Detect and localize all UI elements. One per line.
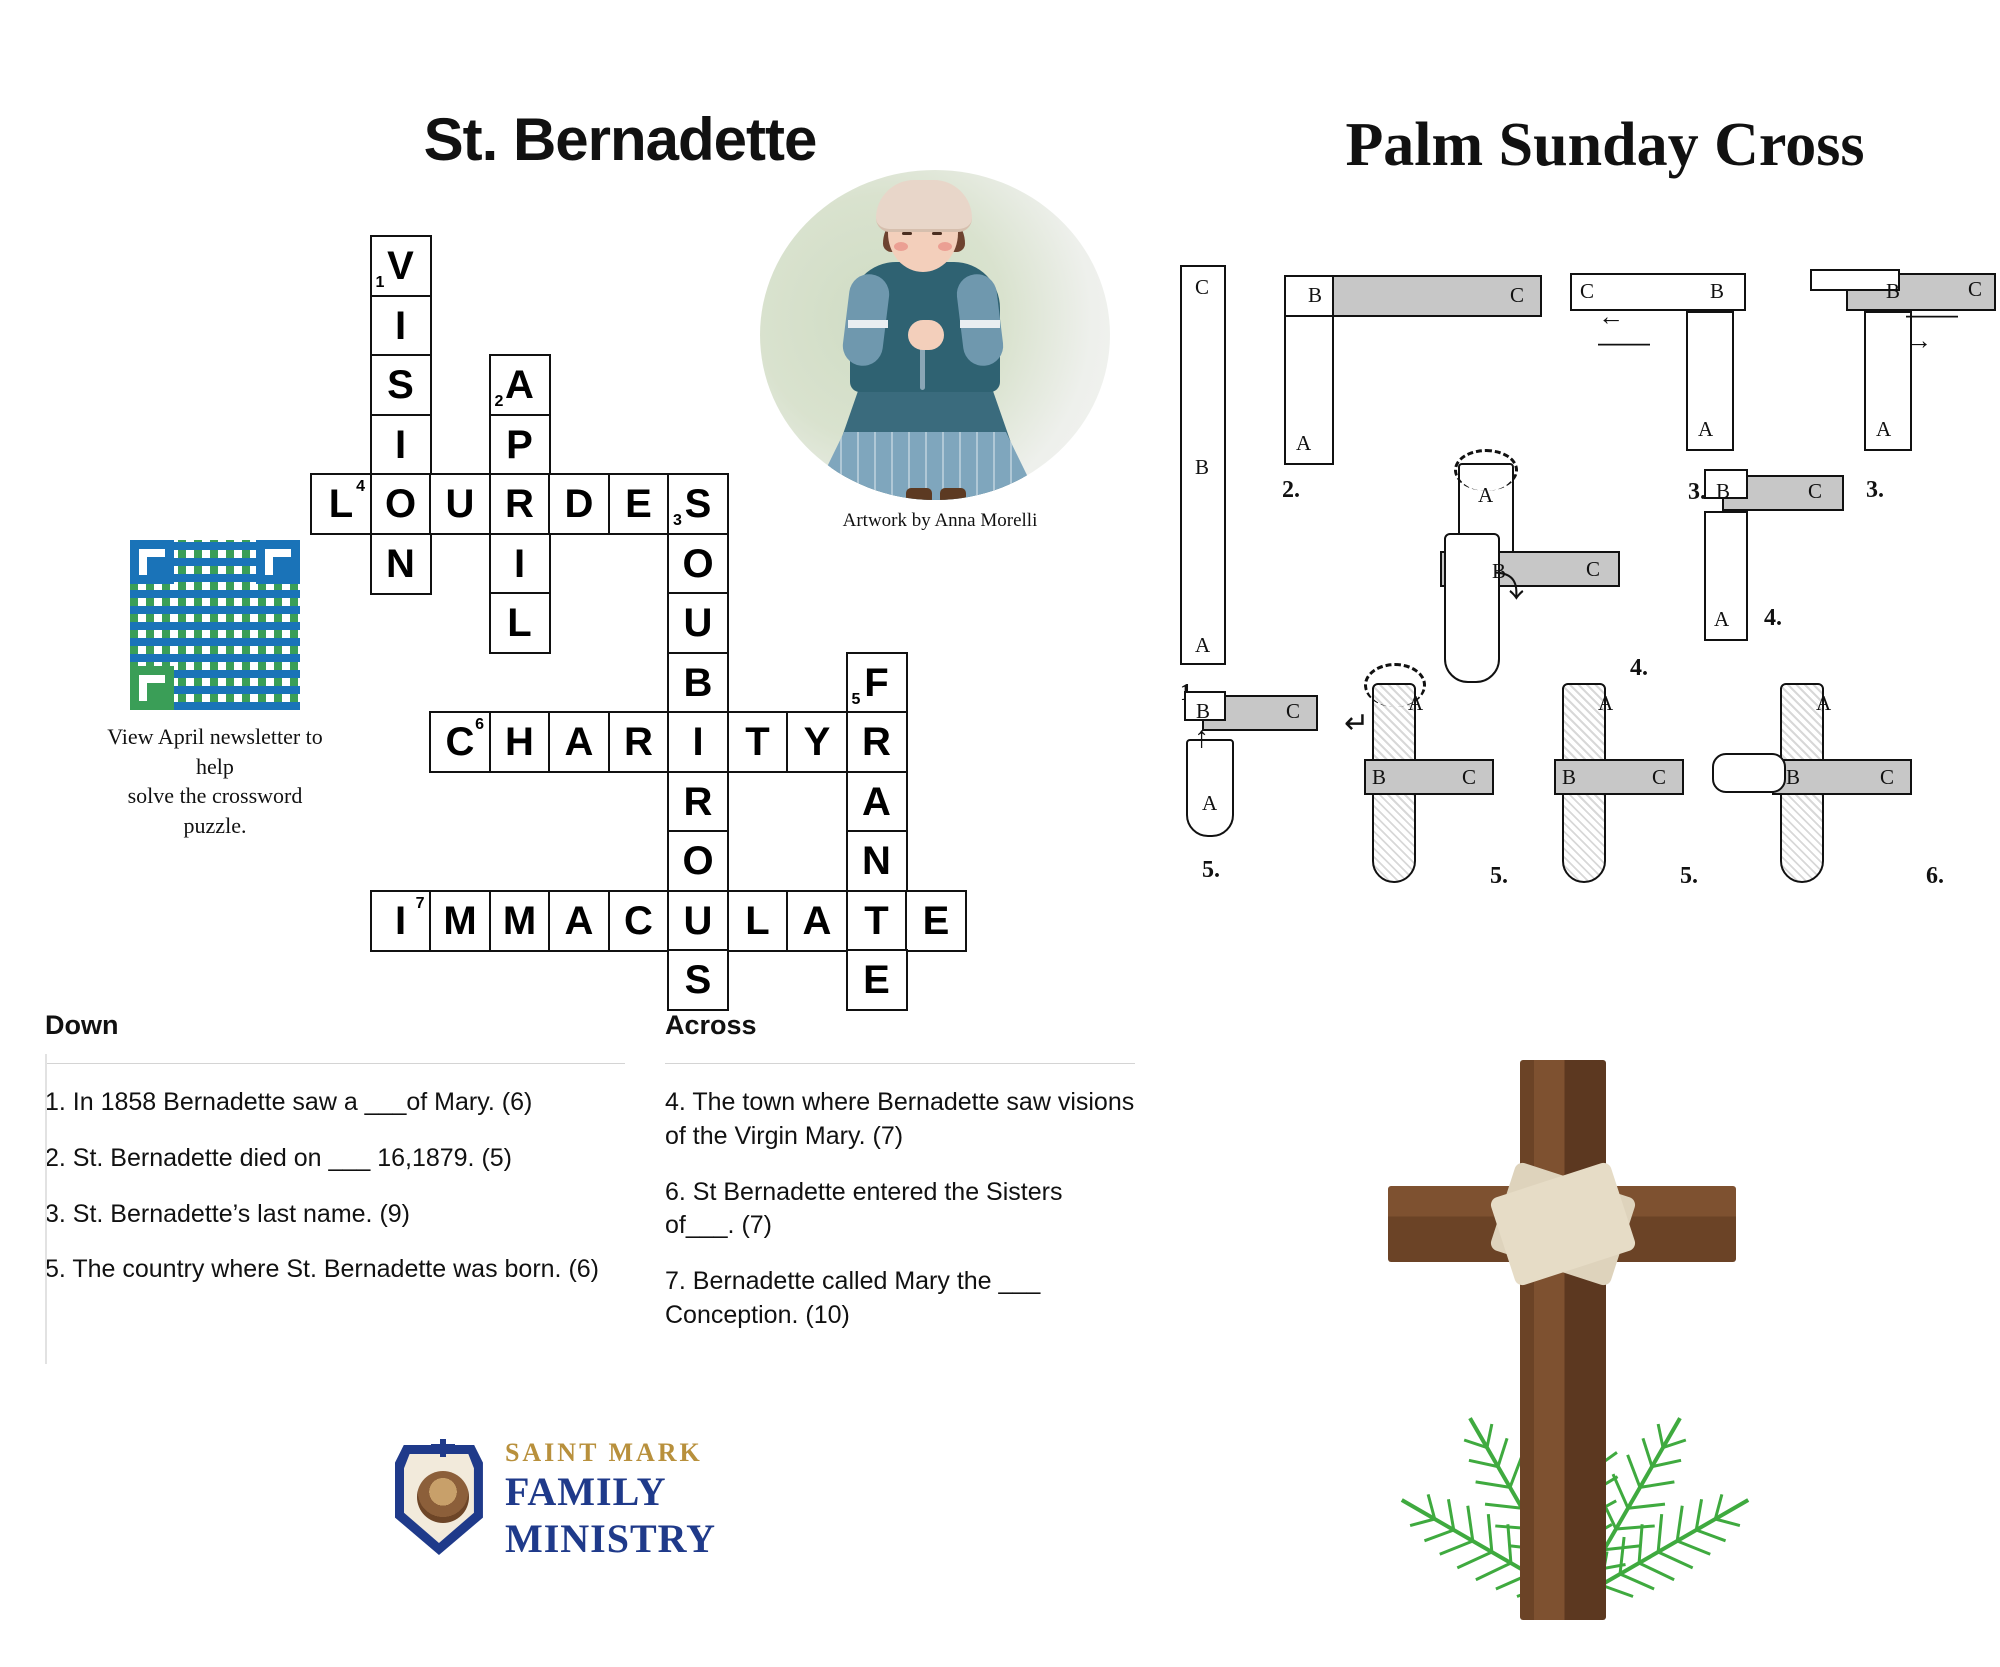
logo-line-2: FAMILY MINISTRY [505,1468,855,1562]
arrow-left-icon: ←—— [1598,303,1650,355]
qr-code-icon[interactable] [130,540,300,710]
qr-caption-line2: solve the crossword puzzle. [95,781,335,840]
label-a: A [1195,633,1210,658]
crossword-cell-letter: F [864,663,888,703]
across-clue-6: 6. St Bernadette entered the Sisters of_… [665,1176,1135,1244]
across-clue-7: 7. Bernadette called Mary the ___ Concep… [665,1265,1135,1333]
label-a: A [1478,483,1493,508]
portrait-bonnet [876,180,972,232]
across-heading: Across [665,1010,1135,1041]
crossword-cell-letter: C [446,722,475,762]
crossword-cell-letter: N [862,841,891,881]
crossword-cell-number: 7 [416,896,425,912]
step-number-6: 6. [1926,863,1944,890]
portrait-eye-left [902,232,912,235]
label-b: B [1372,765,1386,790]
crossword-cell-letter: S [685,484,712,524]
qr-caption: View April newsletter to help solve the … [95,722,335,841]
crossword-cell-letter: L [745,901,769,941]
crossword-cell-letter: D [565,484,594,524]
crossword-cell[interactable]: E [846,949,908,1011]
crossword-cell-letter: P [506,425,533,465]
arrow-down-icon: ⤵ [1494,573,1524,603]
crossword-cell[interactable]: A [786,890,848,952]
arrow-right-icon: ——→ [1906,301,1958,353]
label-a: A [1408,691,1423,716]
portrait-circle [760,170,1110,500]
label-a: A [1876,417,1891,442]
crossword-cell[interactable]: M [429,890,491,952]
crossword-cell-letter: V [387,246,414,286]
crossword-cell-letter: A [565,722,594,762]
crossword-cell[interactable]: T [846,890,908,952]
across-clue-4: 4. The town where Bernadette saw visions… [665,1086,1135,1154]
portrait-shoe-left [906,488,932,500]
label-a: A [1698,417,1713,442]
crossword-cell-letter: I [395,901,406,941]
ministry-logo: SAINT MARK FAMILY MINISTRY [395,1440,855,1560]
crossword-cell[interactable]: Y [786,711,848,773]
label-b: B [1195,455,1209,480]
crossword-cell[interactable]: R [667,771,729,833]
palm-cross-instructions: C B A 1. B C A 2. C B A ←—— 3. B C A ——→… [1180,245,2000,1005]
crossword-cell-letter: R [684,782,713,822]
across-divider [665,1063,1135,1064]
crossword-cell-letter: I [395,425,406,465]
down-clue-1: 1. In 1858 Bernadette saw a ___of Mary. … [45,1086,625,1120]
crossword-cell-letter: E [863,960,890,1000]
crossword-cell-letter: M [503,901,536,941]
holy-family-crest-icon [395,1445,483,1555]
crossword-cell[interactable]: R [846,711,908,773]
label-c: C [1808,479,1822,504]
crossword-cell[interactable]: 6C [429,711,491,773]
crossword-cell[interactable]: O [667,830,729,892]
crossword-cell-letter: N [386,544,415,584]
down-side-rule [45,1054,47,1364]
crossword-cell[interactable]: N [846,830,908,892]
crossword-cell[interactable]: A [548,890,610,952]
crossword-cell-letter: T [864,901,888,941]
crossword-cell-letter: E [625,484,652,524]
crossword-cell-number: 1 [376,275,385,291]
crossword-cell-letter: E [923,901,950,941]
step-number-2: 2. [1282,477,1300,504]
crossword-cell[interactable]: 2A [489,354,551,416]
crossword-cell[interactable]: B [667,652,729,714]
crossword-cell-letter: I [395,306,406,346]
saint-bernadette-illustration: Artwork by Anna Morelli [760,170,1120,532]
crossword-cell-letter: I [692,722,703,762]
crossword-cell[interactable]: 7I [370,890,432,952]
label-b: B [1562,765,1576,790]
crossword-cell[interactable]: S [667,949,729,1011]
crossword-cell-letter: O [682,841,713,881]
down-clue-3: 3. St. Bernadette’s last name. (9) [45,1198,625,1232]
label-c: C [1286,699,1300,724]
crossword-cell-number: 3 [673,513,682,529]
label-c: C [1462,765,1476,790]
down-clues-section: Down 1. In 1858 Bernadette saw a ___of M… [45,1010,625,1309]
crossword-cell[interactable]: N [370,533,432,595]
logo-line-1: SAINT MARK [505,1438,855,1468]
portrait-hands [908,320,944,350]
crossword-cell[interactable]: S [370,354,432,416]
crossword-cell[interactable]: R [489,473,551,535]
crossword-cell-number: 4 [356,479,365,495]
crossword-cell[interactable]: A [846,771,908,833]
bernadette-page-title: St. Bernadette [350,105,890,174]
label-c: C [1580,279,1594,304]
crossword-cell[interactable]: T [727,711,789,773]
label-b: B [1308,283,1322,308]
step-number-5a: 5. [1202,857,1220,884]
crossword-cell-number: 5 [852,692,861,708]
down-divider [45,1063,625,1064]
logo-wordmark: SAINT MARK FAMILY MINISTRY [505,1438,855,1562]
crossword-cell-letter: I [514,544,525,584]
crossword-cell[interactable]: 5F [846,652,908,714]
step-number-4a: 4. [1630,655,1648,682]
crossword-cell[interactable]: D [548,473,610,535]
label-a: A [1598,691,1613,716]
crossword-cell[interactable]: C [608,890,670,952]
crossword-cell[interactable]: U [667,890,729,952]
cross-vertical-beam [1520,1060,1606,1620]
crossword-cell-letter: R [624,722,653,762]
crossword-cell[interactable]: U [667,592,729,654]
arrow-up-icon: ↑ [1194,723,1209,753]
crossword-cell[interactable]: P [489,414,551,476]
crossword-cell-letter: U [684,603,713,643]
label-a: A [1202,791,1217,816]
label-c: C [1195,275,1209,300]
label-b: B [1716,479,1730,504]
step-number-5c: 5. [1680,863,1698,890]
crossword-cell[interactable]: I [370,295,432,357]
portrait-eye-right [932,232,942,235]
portrait-cuff-left [848,320,888,328]
crossword-cell[interactable]: I [667,711,729,773]
crossword-cell-letter: R [862,722,891,762]
arrow-curve-icon: ↵ [1344,709,1369,739]
label-b: B [1886,279,1900,304]
crossword-cell[interactable]: O [370,473,432,535]
label-c: C [1880,765,1894,790]
crossword-cell[interactable]: O [667,533,729,595]
label-b: B [1710,279,1724,304]
portrait-cheek-left [894,242,908,251]
crossword-cell-number: 6 [475,717,484,733]
label-b: B [1786,765,1800,790]
label-a: A [1816,691,1831,716]
label-c: C [1510,283,1524,308]
crossword-cell-letter: A [505,365,534,405]
crossword-cell[interactable]: E [905,890,967,952]
across-clues-section: Across 4. The town where Bernadette saw … [665,1010,1135,1355]
crossword-cell[interactable]: H [489,711,551,773]
step-number-5b: 5. [1490,863,1508,890]
crossword-cell-letter: T [745,722,769,762]
palm-cross-illustration [1370,1060,1790,1620]
label-a: A [1714,607,1729,632]
crossword-cell[interactable]: U [429,473,491,535]
crossword-cell[interactable]: 3S [667,473,729,535]
crossword-cell-letter: U [446,484,475,524]
crossword-cell-letter: S [387,365,414,405]
crossword-cell-number: 2 [495,394,504,410]
crossword-cell[interactable]: R [608,711,670,773]
crossword-cell[interactable]: 1V [370,235,432,297]
label-c: C [1968,277,1982,302]
crossword-cell-letter: S [685,960,712,1000]
crossword-cell-letter: C [624,901,653,941]
crossword-cell[interactable]: I [370,414,432,476]
crossword-cell[interactable]: 4L [310,473,372,535]
crossword-cell-letter: B [684,663,713,703]
crossword-cell-letter: M [443,901,476,941]
down-heading: Down [45,1010,625,1041]
crossword-cell[interactable]: L [489,592,551,654]
crossword-cell-letter: Y [804,722,831,762]
label-c: C [1586,557,1600,582]
crossword-cell[interactable]: M [489,890,551,952]
crossword-cell-letter: L [507,603,531,643]
step-number-3b: 3. [1866,477,1884,504]
qr-newsletter-block: View April newsletter to help solve the … [95,540,335,841]
crossword-cell[interactable]: E [608,473,670,535]
portrait-shoe-right [940,488,966,500]
crossword-cell-letter: R [505,484,534,524]
down-clue-5: 5. The country where St. Bernadette was … [45,1253,625,1287]
crossword-cell-letter: L [329,484,353,524]
portrait-cuff-right [960,320,1000,328]
portrait-cheek-right [938,242,952,251]
artwork-credit: Artwork by Anna Morelli [760,510,1120,532]
label-a: A [1296,431,1311,456]
qr-caption-line1: View April newsletter to help [95,722,335,781]
crossword-cell[interactable]: A [548,711,610,773]
crossword-cell-letter: H [505,722,534,762]
crossword-cell[interactable]: L [727,890,789,952]
palm-sunday-cross-title: Palm Sunday Cross [1210,110,2000,181]
crossword-cell-letter: O [385,484,416,524]
crossword-cell-letter: O [682,544,713,584]
crossword-cell-letter: A [565,901,594,941]
step-number-4b: 4. [1764,605,1782,632]
crossword-cell-letter: U [684,901,713,941]
crossword-cell-letter: A [803,901,832,941]
crossword-cell[interactable]: I [489,533,551,595]
down-clue-2: 2. St. Bernadette died on ___ 16,1879. (… [45,1142,625,1176]
crossword-cell-letter: A [862,782,891,822]
label-c: C [1652,765,1666,790]
